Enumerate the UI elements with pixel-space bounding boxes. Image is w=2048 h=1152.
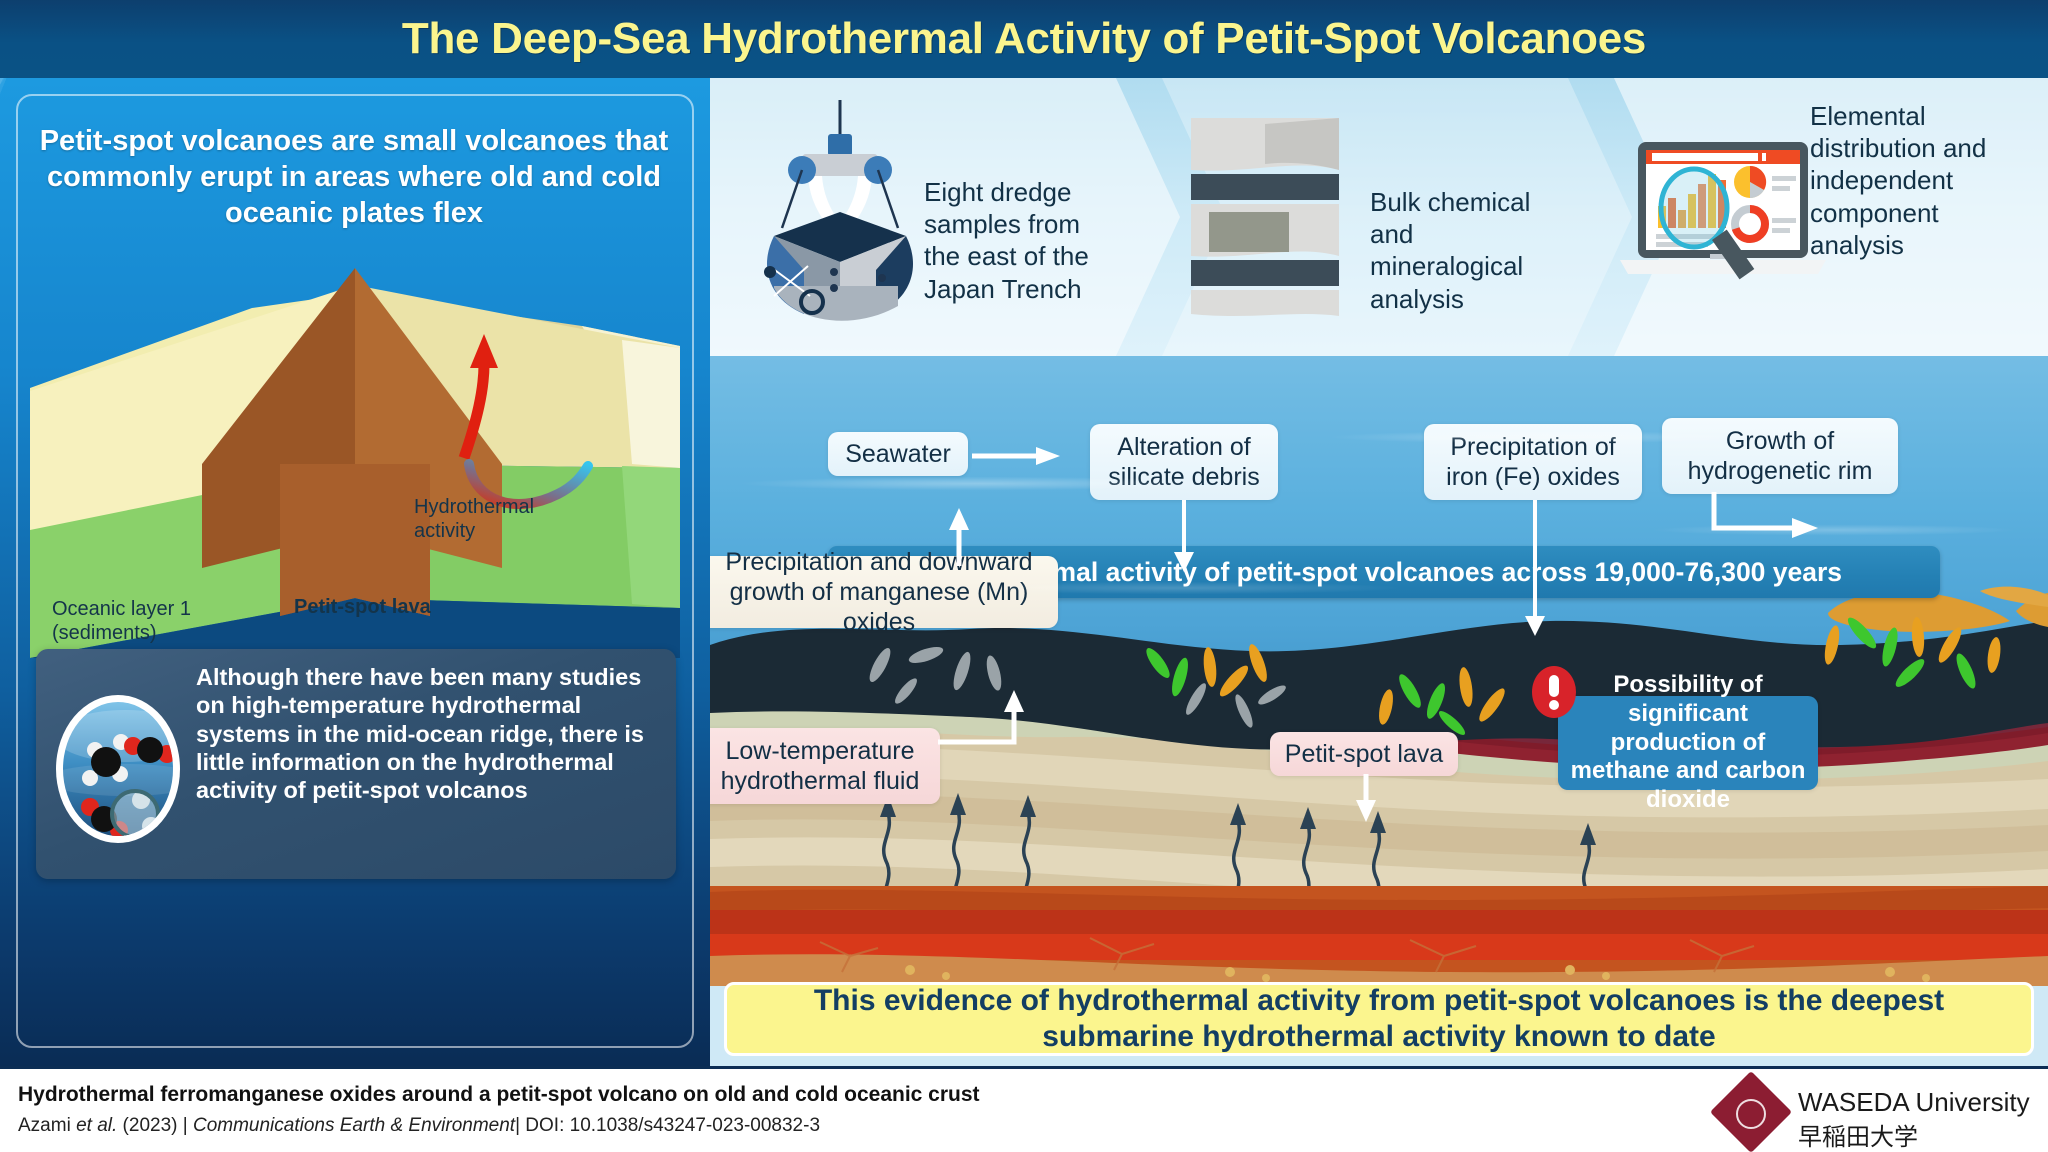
citation-etal: et al. xyxy=(71,1115,117,1136)
callout-hydrogenetic-rim: Growth of hydrogenetic rim xyxy=(1662,418,1898,494)
left-info-card: Although there have been many studies on… xyxy=(36,649,676,879)
leader-low-temperature-fluid xyxy=(938,682,1048,778)
exclamation-alert-icon xyxy=(1530,664,1578,720)
right-panel: Eight dredge samples from the east of th… xyxy=(710,78,2048,1066)
dredge-grab-icon xyxy=(748,100,928,337)
strata-svg xyxy=(710,356,2048,936)
workflow-step-1-label: Eight dredge samples from the east of th… xyxy=(924,176,1094,305)
callout-low-temperature-fluid: Low-temperature hydrothermal fluid xyxy=(710,728,940,804)
leader-alteration xyxy=(1182,500,1186,562)
callout-methane-warning: Possibility of significant production of… xyxy=(1558,696,1818,790)
lava-strata-svg xyxy=(710,886,2048,986)
leader-manganese-arrowhead xyxy=(947,508,971,566)
left-card-text: Although there have been many studies on… xyxy=(196,663,662,805)
workflow-step-3-label: Elemental distribution and independent c… xyxy=(1810,100,1988,261)
left-headline: Petit-spot volcanoes are small volcanoes… xyxy=(34,124,674,232)
label-petit-spot-lava: Petit-spot lava xyxy=(294,596,434,620)
citation-year: (2023) | xyxy=(117,1115,193,1136)
leader-petit-spot-lava-arrowhead xyxy=(1354,774,1378,822)
footer-bar: Hydrothermal ferromanganese oxides aroun… xyxy=(0,1066,2048,1152)
label-oceanic-layer-1: Oceanic layer 1 (sediments) xyxy=(52,598,212,645)
leader-iron-arrowhead xyxy=(1523,616,1547,638)
left-panel: Petit-spot volcanoes are small volcanoes… xyxy=(0,78,710,1066)
paper-title: Hydrothermal ferromanganese oxides aroun… xyxy=(18,1083,980,1107)
leader-iron-oxides xyxy=(1533,500,1537,626)
date-range-banner: Hydrothermal activity of petit-spot volc… xyxy=(828,546,1940,598)
waseda-logo-en: WASEDA University xyxy=(1798,1087,2030,1118)
callout-manganese-oxides: Precipitation and downward growth of man… xyxy=(710,556,1058,628)
page-title: The Deep-Sea Hydrothermal Activity of Pe… xyxy=(0,14,2048,64)
workflow-strip: Eight dredge samples from the east of th… xyxy=(710,78,2048,356)
waseda-seal-icon xyxy=(1736,1099,1766,1129)
callout-petit-spot-lava: Petit-spot lava xyxy=(1270,732,1458,776)
molecule-magnifier-icon xyxy=(56,695,180,843)
seawater-arrow-icon xyxy=(972,444,1062,468)
header-bar: The Deep-Sea Hydrothermal Activity of Pe… xyxy=(0,0,2048,78)
paper-citation: Azami et al. (2023) | Communications Ear… xyxy=(18,1115,820,1137)
citation-author: Azami xyxy=(18,1115,71,1136)
conclusion-banner: This evidence of hydrothermal activity f… xyxy=(724,982,2034,1056)
label-hydrothermal-activity: Hydrothermal activity xyxy=(414,496,564,543)
laptop-analysis-icon xyxy=(1616,136,1830,293)
rock-core-icon xyxy=(1185,114,1345,325)
citation-doi: | DOI: 10.1038/s43247-023-00832-3 xyxy=(515,1115,820,1136)
seafloor-cross-section: Hydrothermal activity of petit-spot volc… xyxy=(710,356,2048,936)
waseda-logo-jp: 早稲田大学 xyxy=(1798,1117,1918,1152)
citation-journal: Communications Earth & Environment xyxy=(193,1115,515,1136)
callout-iron-oxides: Precipitation of iron (Fe) oxides xyxy=(1424,424,1642,500)
oceanic-crust-block-diagram: Oceanic layer 1 (sediments) Oceanic laye… xyxy=(22,268,688,658)
callout-alteration-silicate-debris: Alteration of silicate debris xyxy=(1090,424,1278,500)
leader-hydrogenetic-rim xyxy=(1710,492,1820,548)
leader-alteration-arrowhead xyxy=(1172,552,1196,574)
workflow-step-2-label: Bulk chemical and mineralogical analysis xyxy=(1370,186,1538,315)
waseda-logo: WASEDA University 早稲田大学 xyxy=(1706,1077,2036,1149)
infographic-root: The Deep-Sea Hydrothermal Activity of Pe… xyxy=(0,0,2048,1152)
callout-seawater: Seawater xyxy=(828,432,968,476)
